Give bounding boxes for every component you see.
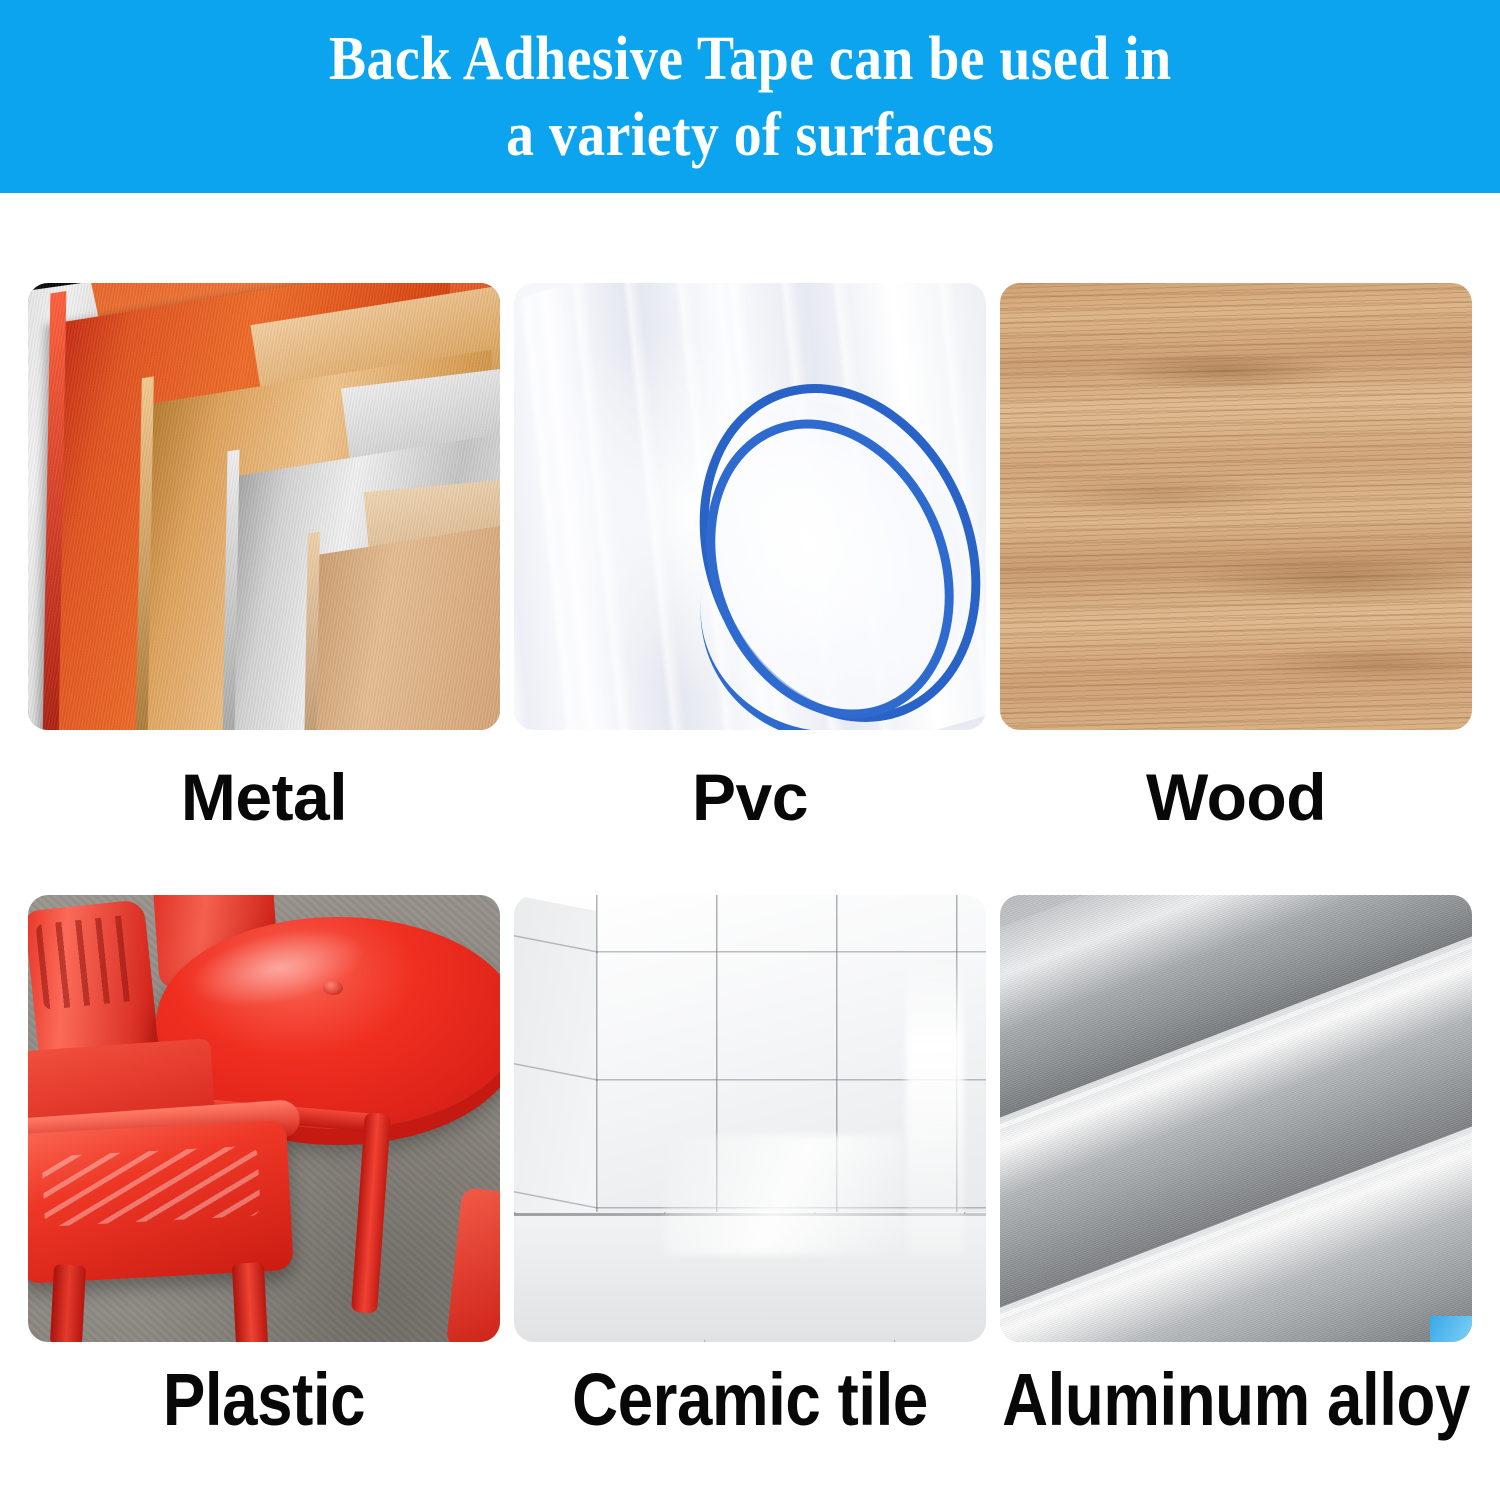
metal-image	[28, 283, 500, 730]
plastic-image	[28, 895, 500, 1342]
banner-headline-line-2: a variety of surfaces	[506, 97, 994, 173]
tile-label-wood: Wood	[1000, 730, 1472, 895]
pvc-image	[514, 283, 986, 730]
ceramic-tile-image	[514, 895, 986, 1342]
tile-label-aluminum-alloy: Aluminum alloy	[1033, 1342, 1439, 1433]
aluminum-alloy-image	[1000, 895, 1472, 1342]
banner-headline-line-1: Back Adhesive Tape can be used in	[329, 21, 1172, 97]
tile-label-pvc: Pvc	[514, 730, 986, 895]
wood-image	[1000, 283, 1472, 730]
tile-label-metal: Metal	[28, 730, 500, 895]
tile-label-plastic: Plastic	[61, 1342, 467, 1433]
tile-label-ceramic-tile: Ceramic tile	[547, 1342, 953, 1433]
surface-types-grid: Metal Pvc Wood Plasti	[28, 283, 1473, 1433]
header-banner: Back Adhesive Tape can be used in a vari…	[0, 0, 1500, 193]
